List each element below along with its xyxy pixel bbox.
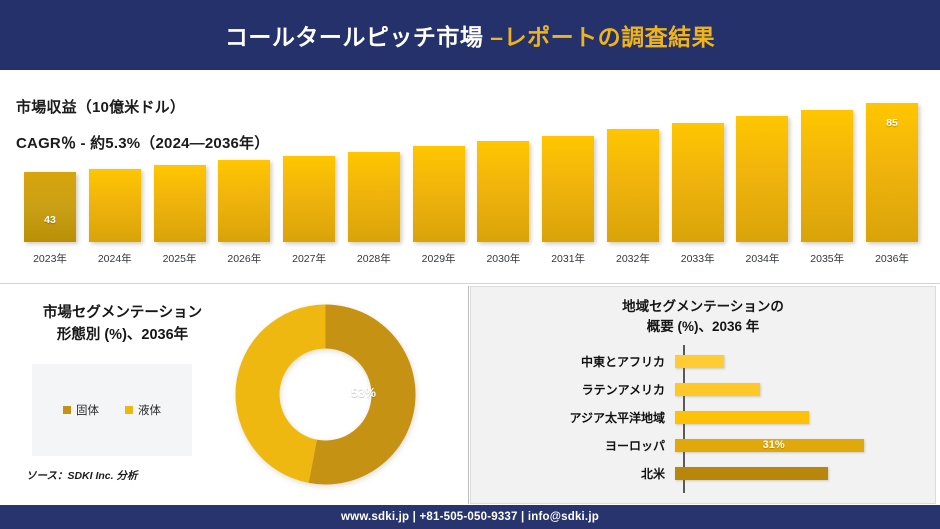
- bar-column: 2031年: [542, 87, 594, 266]
- revenue-panel: 市場収益（10億米ドル） CAGR％ - 約5.3%（2024―2036年） 4…: [0, 70, 940, 283]
- page-title-main: コールタールピッチ市場: [225, 24, 490, 50]
- legend-swatch-solid: [63, 406, 71, 414]
- bar-column: 2033年: [672, 87, 724, 266]
- bar-column: 2027年: [283, 87, 335, 266]
- bar: [348, 152, 400, 242]
- legend-swatch-liquid: [125, 406, 133, 414]
- bar: [218, 160, 270, 242]
- bar-column: 2026年: [218, 87, 270, 266]
- bar-x-label: 2027年: [292, 251, 326, 266]
- bar-column: 2035年: [801, 87, 853, 266]
- regional-panel: 地域セグメンテーションの 概要 (%)、2036 年 中東とアフリカラテンアメリ…: [470, 286, 936, 504]
- bar-x-label: 2036年: [875, 251, 909, 266]
- region-bar-chart: 中東とアフリカラテンアメリカアジア太平洋地域ヨーロッパ31%北米: [471, 345, 935, 497]
- bar: [542, 136, 594, 242]
- donut-value-label: 53%: [351, 386, 376, 400]
- bar-track: [283, 87, 335, 242]
- bar-track: [736, 87, 788, 242]
- region-label: ラテンアメリカ: [471, 381, 675, 398]
- bar-x-label: 2034年: [746, 251, 780, 266]
- region-title-line2: 概要 (%)、2036 年: [471, 317, 935, 337]
- bar-x-label: 2024年: [98, 251, 132, 266]
- footer-banner: www.sdki.jp | +81-505-050-9337 | info@sd…: [0, 505, 940, 529]
- bar: [154, 165, 206, 242]
- vertical-divider: [468, 286, 469, 504]
- bar-track: 85: [866, 87, 918, 242]
- region-label: ヨーロッパ: [471, 437, 675, 454]
- bar-track: 43: [24, 87, 76, 242]
- region-bar-wrap: [675, 403, 935, 431]
- bar-x-label: 2026年: [227, 251, 261, 266]
- bar-value-label: 85: [866, 117, 918, 129]
- bar-x-label: 2030年: [486, 251, 520, 266]
- region-bar-wrap: 31%: [675, 431, 935, 459]
- bar-track: [413, 87, 465, 242]
- region-label: 中東とアフリカ: [471, 353, 675, 370]
- donut-title-line2: 形態別 (%)、2036年: [10, 324, 235, 346]
- bar-column: 852036年: [866, 87, 918, 266]
- bar-track: [477, 87, 529, 242]
- page-title: コールタールピッチ市場 –レポートの調査結果: [225, 18, 715, 52]
- bar-x-label: 2033年: [681, 251, 715, 266]
- bar-x-label: 2035年: [810, 251, 844, 266]
- bar: [607, 129, 659, 242]
- bar: [736, 116, 788, 242]
- bar: [801, 110, 853, 242]
- bar-x-label: 2032年: [616, 251, 650, 266]
- bar-track: [89, 87, 141, 242]
- bar-track: [218, 87, 270, 242]
- infographic-page: コールタールピッチ市場 –レポートの調査結果 市場収益（10億米ドル） CAGR…: [0, 0, 940, 529]
- revenue-bar-chart: 432023年2024年2025年2026年2027年2028年2029年203…: [24, 88, 918, 266]
- bar-track: [348, 87, 400, 242]
- bar-x-label: 2028年: [357, 251, 391, 266]
- region-title-line1: 地域セグメンテーションの: [471, 297, 935, 317]
- legend-label-liquid: 液体: [138, 402, 161, 418]
- donut-chart-title: 市場セグメンテーション 形態別 (%)、2036年: [10, 302, 235, 347]
- bar: 43: [24, 172, 76, 242]
- region-bar: [675, 467, 828, 480]
- legend-label-solid: 固体: [76, 402, 99, 418]
- bar-x-label: 2025年: [163, 251, 197, 266]
- region-row: ラテンアメリカ: [471, 375, 935, 403]
- region-bar-wrap: [675, 347, 935, 375]
- page-title-accent: –レポートの調査結果: [490, 24, 715, 50]
- region-bar: 31%: [675, 439, 864, 452]
- bar-column: 2024年: [89, 87, 141, 266]
- donut-slice-liquid: [235, 305, 325, 483]
- bar: [89, 169, 141, 242]
- donut-title-line1: 市場セグメンテーション: [10, 302, 235, 324]
- bar-column: 2025年: [154, 87, 206, 266]
- bar-column: 2030年: [477, 87, 529, 266]
- legend-item-solid: 固体: [63, 402, 99, 418]
- donut-legend: 固体 液体: [32, 364, 192, 456]
- region-chart-title: 地域セグメンテーションの 概要 (%)、2036 年: [471, 297, 935, 338]
- bar-column: 2028年: [348, 87, 400, 266]
- bar-track: [607, 87, 659, 242]
- bar-value-label: 43: [24, 214, 76, 226]
- region-bar-wrap: [675, 375, 935, 403]
- segmentation-panel: 市場セグメンテーション 形態別 (%)、2036年 固体 液体 53% ソース：…: [0, 284, 468, 504]
- bar-x-label: 2031年: [551, 251, 585, 266]
- bar: [672, 123, 724, 242]
- region-label: 北米: [471, 465, 675, 482]
- region-bar: [675, 355, 724, 368]
- bar-track: [154, 87, 206, 242]
- region-label: アジア太平洋地域: [471, 409, 675, 426]
- region-bar-wrap: [675, 459, 935, 487]
- bar-track: [672, 87, 724, 242]
- region-row: 中東とアフリカ: [471, 347, 935, 375]
- footer-contact-text: www.sdki.jp | +81-505-050-9337 | info@sd…: [341, 511, 599, 523]
- region-bar: [675, 411, 809, 424]
- region-value-label: 31%: [763, 439, 785, 451]
- region-row: 北米: [471, 459, 935, 487]
- donut-chart: 53%: [233, 302, 418, 487]
- bar: [283, 156, 335, 242]
- bar-column: 2029年: [413, 87, 465, 266]
- bar-column: 432023年: [24, 87, 76, 266]
- region-bar: [675, 383, 760, 396]
- bar-x-label: 2023年: [33, 251, 67, 266]
- bar-column: 2032年: [607, 87, 659, 266]
- bar: 85: [866, 103, 918, 242]
- bar-column: 2034年: [736, 87, 788, 266]
- bar-track: [801, 87, 853, 242]
- header-banner: コールタールピッチ市場 –レポートの調査結果: [0, 0, 940, 70]
- bar: [413, 146, 465, 242]
- region-row: アジア太平洋地域: [471, 403, 935, 431]
- source-note: ソース：SDKI Inc. 分析: [26, 468, 137, 483]
- region-row: ヨーロッパ31%: [471, 431, 935, 459]
- donut-svg: [233, 302, 418, 487]
- bar-x-label: 2029年: [422, 251, 456, 266]
- bar-track: [542, 87, 594, 242]
- bar: [477, 141, 529, 242]
- legend-item-liquid: 液体: [125, 402, 161, 418]
